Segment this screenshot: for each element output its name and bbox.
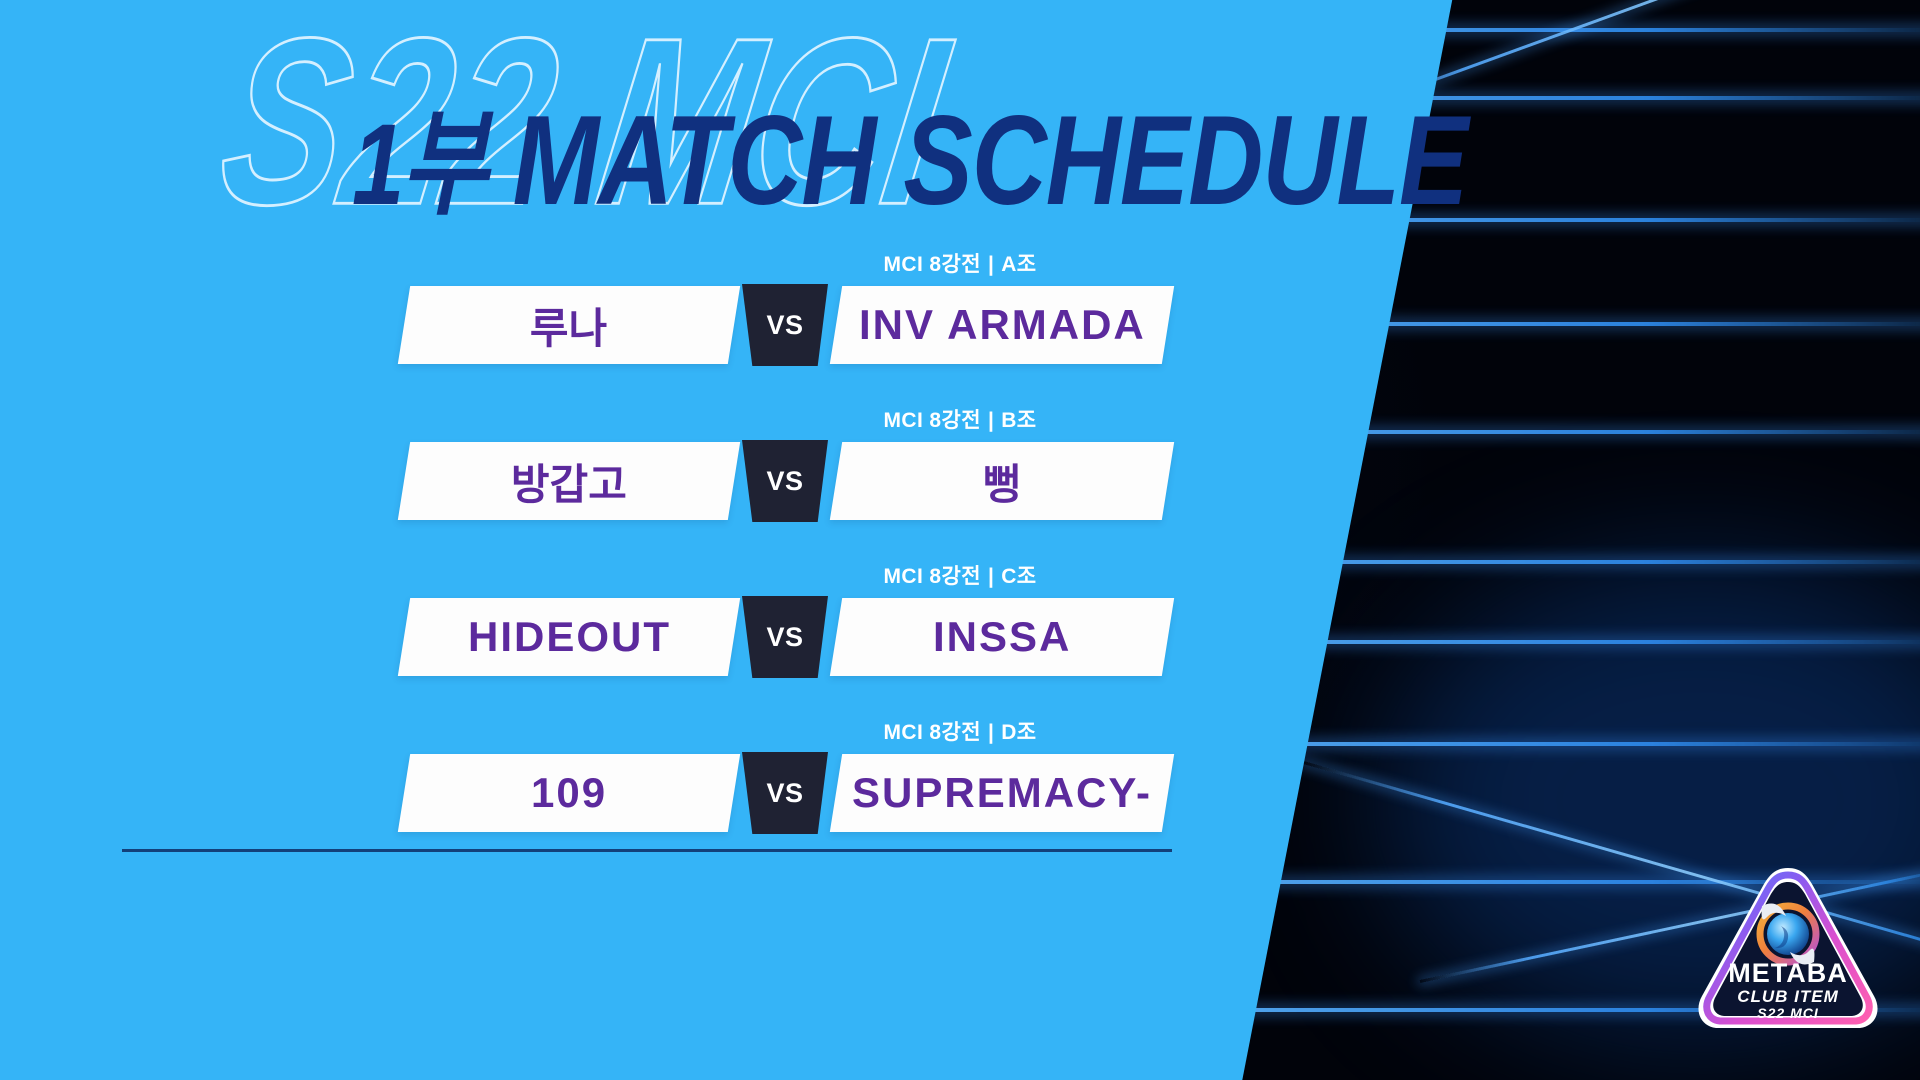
team-left-panel[interactable]: 루나	[398, 286, 740, 364]
vs-label: VS	[766, 778, 803, 809]
team-right-name: SUPREMACY-	[852, 769, 1152, 817]
vs-label: VS	[766, 622, 803, 653]
metaba-logo[interactable]: METABA CLUB ITEM S22 MCI	[1688, 860, 1888, 1046]
vs-badge: VS	[742, 752, 828, 834]
group-divider: |	[981, 721, 1001, 745]
group-divider: |	[981, 409, 1001, 433]
page-title: 1부 MATCH SCHEDULE	[352, 98, 1467, 225]
logo-line1: METABA	[1728, 958, 1847, 988]
team-right-name: INV ARMADA	[859, 301, 1146, 349]
schedule-graphic: S22 MCI 1부 MATCH SCHEDULE MCI 8강전|A조 루나 …	[0, 0, 1920, 1080]
team-right-panel[interactable]: INV ARMADA	[830, 286, 1174, 364]
group-divider: |	[981, 565, 1001, 589]
group-label: MCI 8강전|B조	[0, 404, 1920, 434]
group-stage-text: MCI 8강전	[883, 253, 980, 276]
team-right-name: 뻥	[983, 451, 1022, 512]
group-label: MCI 8강전|C조	[0, 560, 1920, 590]
metaba-logo-badge: METABA CLUB ITEM S22 MCI	[1688, 860, 1888, 1046]
group-name: B조	[1001, 409, 1036, 432]
matchup: 방갑고 VS 뻥	[0, 442, 1920, 520]
page-title-english: MATCH SCHEDULE	[513, 91, 1468, 233]
group-name: A조	[1001, 253, 1036, 276]
match-row: MCI 8강전|B조 방갑고 VS 뻥	[0, 404, 1920, 560]
team-left-panel[interactable]: HIDEOUT	[398, 598, 740, 676]
team-left-name: 루나	[530, 295, 607, 356]
team-left-name: 방갑고	[511, 451, 627, 512]
match-row: MCI 8강전|C조 HIDEOUT VS INSSA	[0, 560, 1920, 716]
team-right-panel[interactable]: INSSA	[830, 598, 1174, 676]
vs-label: VS	[766, 466, 803, 497]
group-label: MCI 8강전|D조	[0, 716, 1920, 746]
team-left-name: 109	[531, 769, 607, 817]
team-right-name: INSSA	[933, 613, 1071, 661]
group-name: D조	[1001, 721, 1036, 744]
team-left-name: HIDEOUT	[468, 613, 671, 661]
match-row: MCI 8강전|D조 109 VS SUPREMACY-	[0, 716, 1920, 872]
vs-badge: VS	[742, 440, 828, 522]
team-left-panel[interactable]: 방갑고	[398, 442, 740, 520]
team-right-panel[interactable]: 뻥	[830, 442, 1174, 520]
team-right-panel[interactable]: SUPREMACY-	[830, 754, 1174, 832]
vs-label: VS	[766, 310, 803, 341]
logo-line2: CLUB ITEM	[1737, 987, 1839, 1006]
matchup: 109 VS SUPREMACY-	[0, 754, 1920, 832]
match-row: MCI 8강전|A조 루나 VS INV ARMADA	[0, 248, 1920, 404]
matchup: 루나 VS INV ARMADA	[0, 286, 1920, 364]
matchup: HIDEOUT VS INSSA	[0, 598, 1920, 676]
team-left-panel[interactable]: 109	[398, 754, 740, 832]
logo-line3: S22 MCI	[1757, 1005, 1819, 1021]
vs-badge: VS	[742, 284, 828, 366]
group-divider: |	[981, 253, 1001, 277]
group-label: MCI 8강전|A조	[0, 248, 1920, 278]
page-title-korean: 1부	[352, 100, 485, 228]
match-list: MCI 8강전|A조 루나 VS INV ARMADA MCI 8강전|B조 방…	[0, 248, 1920, 872]
group-name: C조	[1001, 565, 1036, 588]
logo-orb-icon	[1767, 913, 1809, 955]
group-stage-text: MCI 8강전	[883, 721, 980, 744]
group-stage-text: MCI 8강전	[883, 409, 980, 432]
group-stage-text: MCI 8강전	[883, 565, 980, 588]
vs-badge: VS	[742, 596, 828, 678]
